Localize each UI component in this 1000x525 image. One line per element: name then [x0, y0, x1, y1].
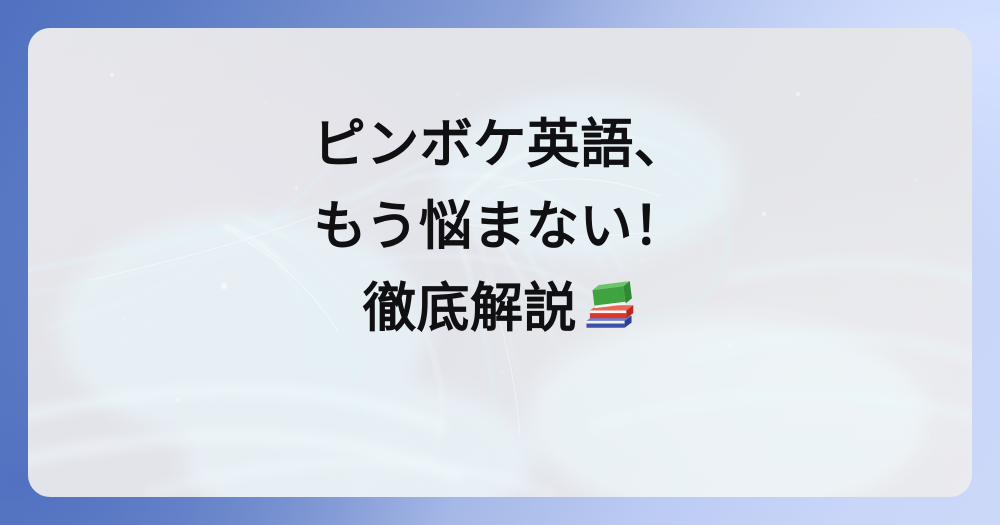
books-emoji	[581, 281, 637, 333]
headline: ピンボケ英語、 もう悩まない！ 徹底解説	[0, 104, 1000, 350]
headline-line-1: ピンボケ英語、	[0, 104, 1000, 186]
headline-line-3-wrap: 徹底解説	[0, 268, 1000, 350]
headline-line-2: もう悩まない！	[0, 186, 1000, 268]
thumbnail-canvas: ピンボケ英語、 もう悩まない！ 徹底解説	[0, 0, 1000, 525]
headline-line-3: 徹底解説	[363, 278, 577, 339]
